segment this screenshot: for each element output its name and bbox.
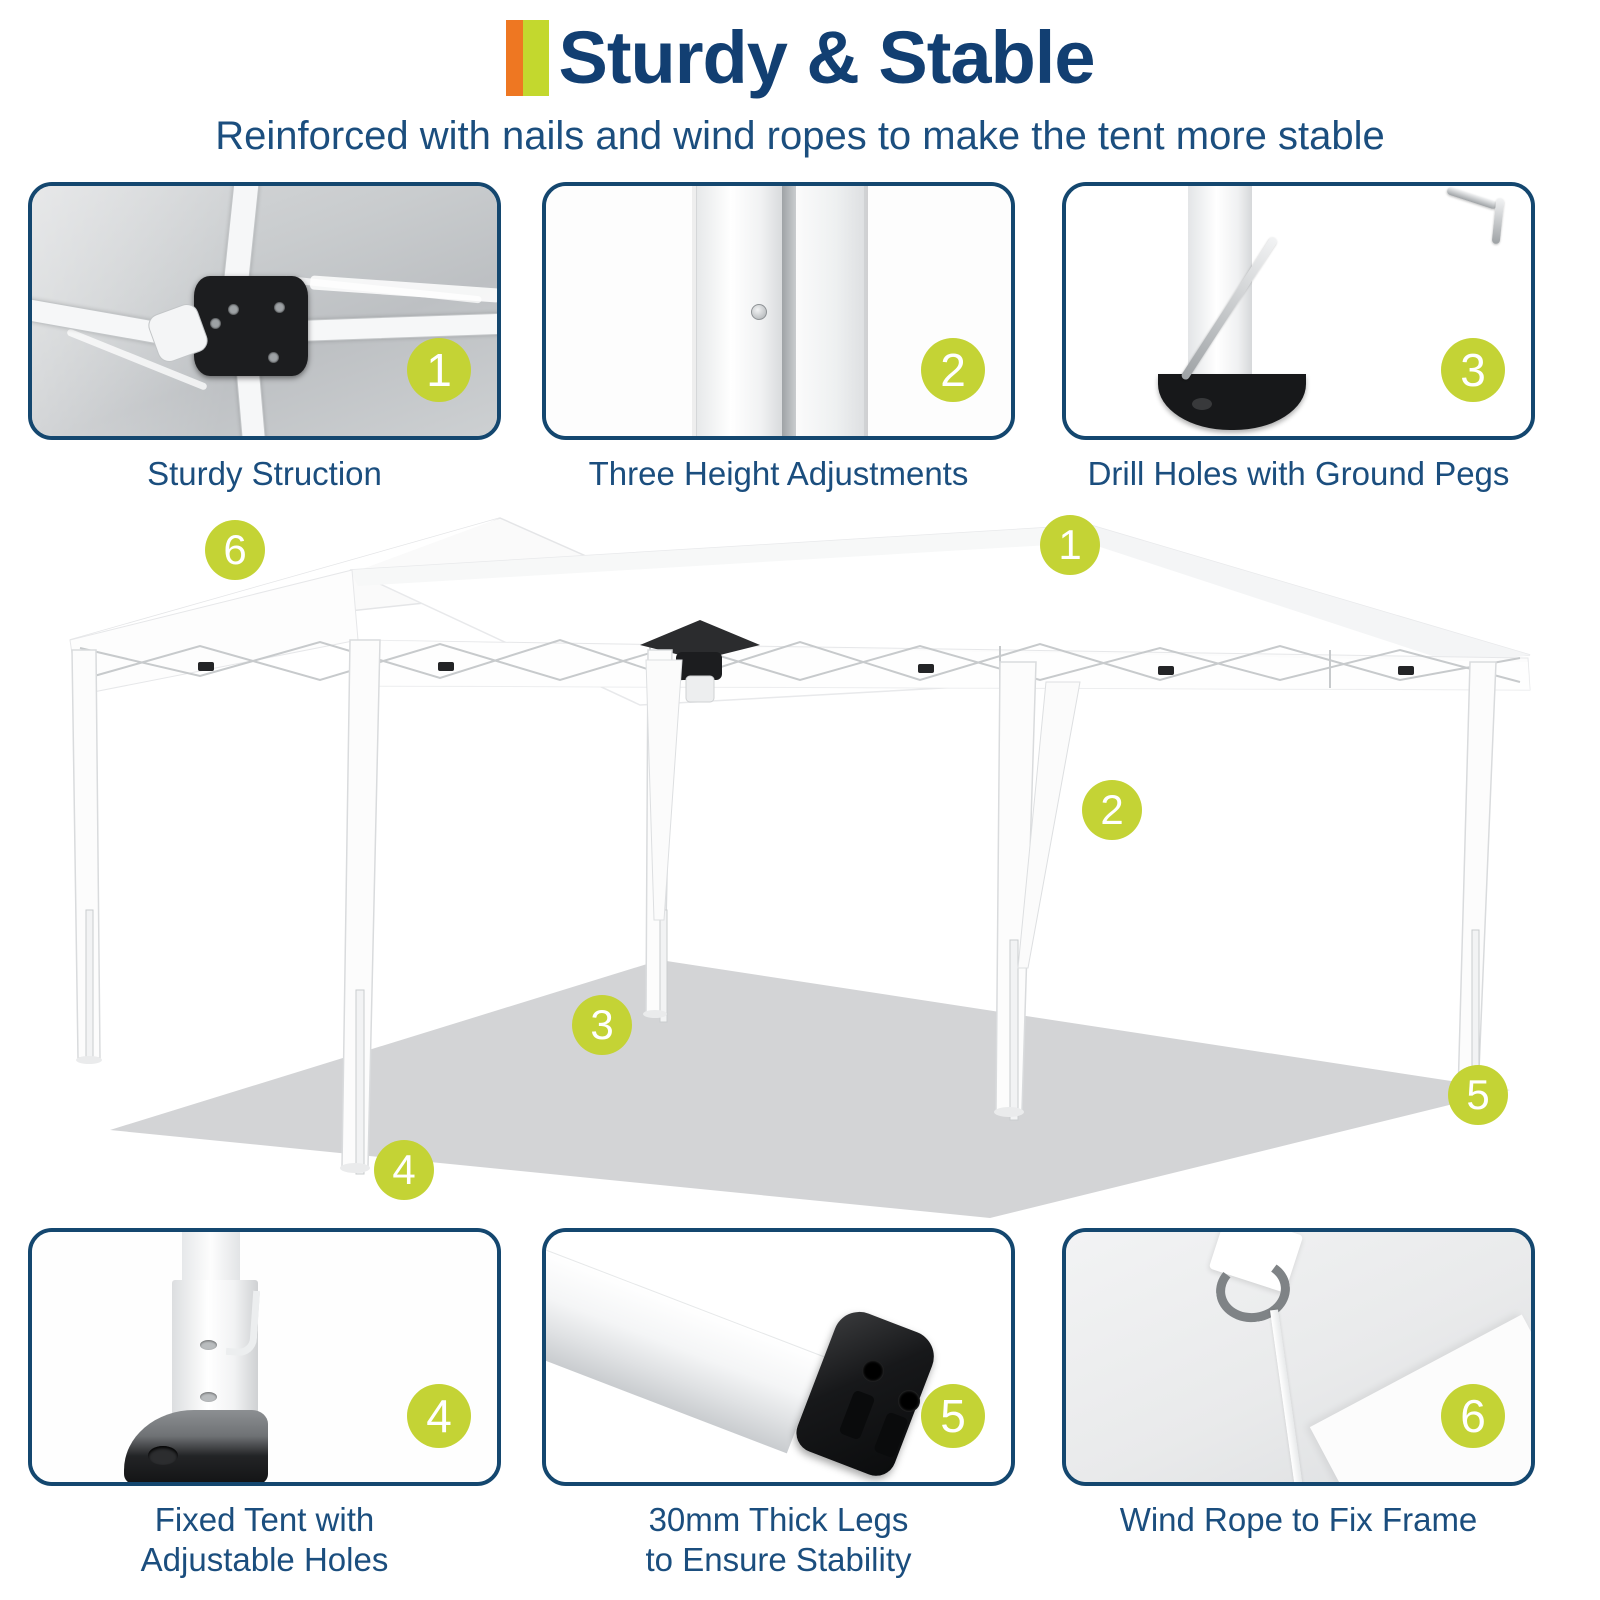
feature-panel-6-caption-line1: Wind Rope to Fix Frame [1062, 1500, 1535, 1540]
hero-callout-2: 2 [1082, 780, 1142, 840]
feature-panel-3-caption: Drill Holes with Ground Pegs [1062, 454, 1535, 494]
feature-panel-1-image: 1 [28, 182, 501, 440]
feature-panel-1[interactable]: 1 Sturdy Struction [28, 182, 501, 494]
canopy-tent-illustration [0, 490, 1600, 1218]
infographic-page: Sturdy & Stable Reinforced with nails an… [0, 0, 1600, 1600]
panel-badge-2: 2 [921, 338, 985, 402]
feature-panel-2-caption: Three Height Adjustments [542, 454, 1015, 494]
valance-left [70, 570, 358, 695]
lime-accent-bar [523, 20, 549, 96]
feature-panel-2[interactable]: 2 Three Height Adjustments [542, 182, 1015, 494]
feature-panel-3[interactable]: 3 Drill Holes with Ground Pegs [1062, 182, 1535, 494]
feature-panel-6[interactable]: 6 Wind Rope to Fix Frame [1062, 1228, 1535, 1540]
panel-badge-6: 6 [1441, 1384, 1505, 1448]
feature-panel-4[interactable]: 4 Fixed Tent with Adjustable Holes [28, 1228, 501, 1580]
page-title: Sturdy & Stable [559, 20, 1095, 96]
hero-tent-image: 6 1 2 3 4 5 [0, 490, 1600, 1218]
hero-callout-3: 3 [572, 995, 632, 1055]
hero-callout-6: 6 [205, 520, 265, 580]
panel-badge-3: 3 [1441, 338, 1505, 402]
feature-panel-5-caption-line2: to Ensure Stability [542, 1540, 1015, 1580]
header: Sturdy & Stable Reinforced with nails an… [0, 0, 1600, 178]
feature-panel-1-caption: Sturdy Struction [28, 454, 501, 494]
title-row: Sturdy & Stable [0, 12, 1600, 104]
panel-badge-5: 5 [921, 1384, 985, 1448]
hero-callout-1: 1 [1040, 515, 1100, 575]
panel-badge-1: 1 [407, 338, 471, 402]
feature-panel-4-caption-line2: Adjustable Holes [28, 1540, 501, 1580]
orange-accent-bar [506, 20, 523, 96]
feature-panel-4-image: 4 [28, 1228, 501, 1486]
feature-panel-5-caption: 30mm Thick Legs to Ensure Stability [542, 1500, 1015, 1580]
feature-panel-4-caption: Fixed Tent with Adjustable Holes [28, 1500, 501, 1580]
feature-panel-6-caption: Wind Rope to Fix Frame [1062, 1500, 1535, 1540]
feature-panel-5[interactable]: 5 30mm Thick Legs to Ensure Stability [542, 1228, 1015, 1580]
feature-panel-3-image: 3 [1062, 182, 1535, 440]
feature-panel-5-image: 5 [542, 1228, 1015, 1486]
feature-panel-4-caption-line1: Fixed Tent with [28, 1500, 501, 1540]
panel-badge-4: 4 [407, 1384, 471, 1448]
hero-callout-5: 5 [1448, 1065, 1508, 1125]
feature-panel-6-image: 6 [1062, 1228, 1535, 1486]
feature-panel-5-caption-line1: 30mm Thick Legs [542, 1500, 1015, 1540]
ground-shadow [110, 960, 1510, 1218]
hero-callout-4: 4 [374, 1140, 434, 1200]
title-accent-bars [506, 20, 549, 96]
feature-panel-2-image: 2 [542, 182, 1015, 440]
page-subtitle: Reinforced with nails and wind ropes to … [0, 112, 1600, 160]
